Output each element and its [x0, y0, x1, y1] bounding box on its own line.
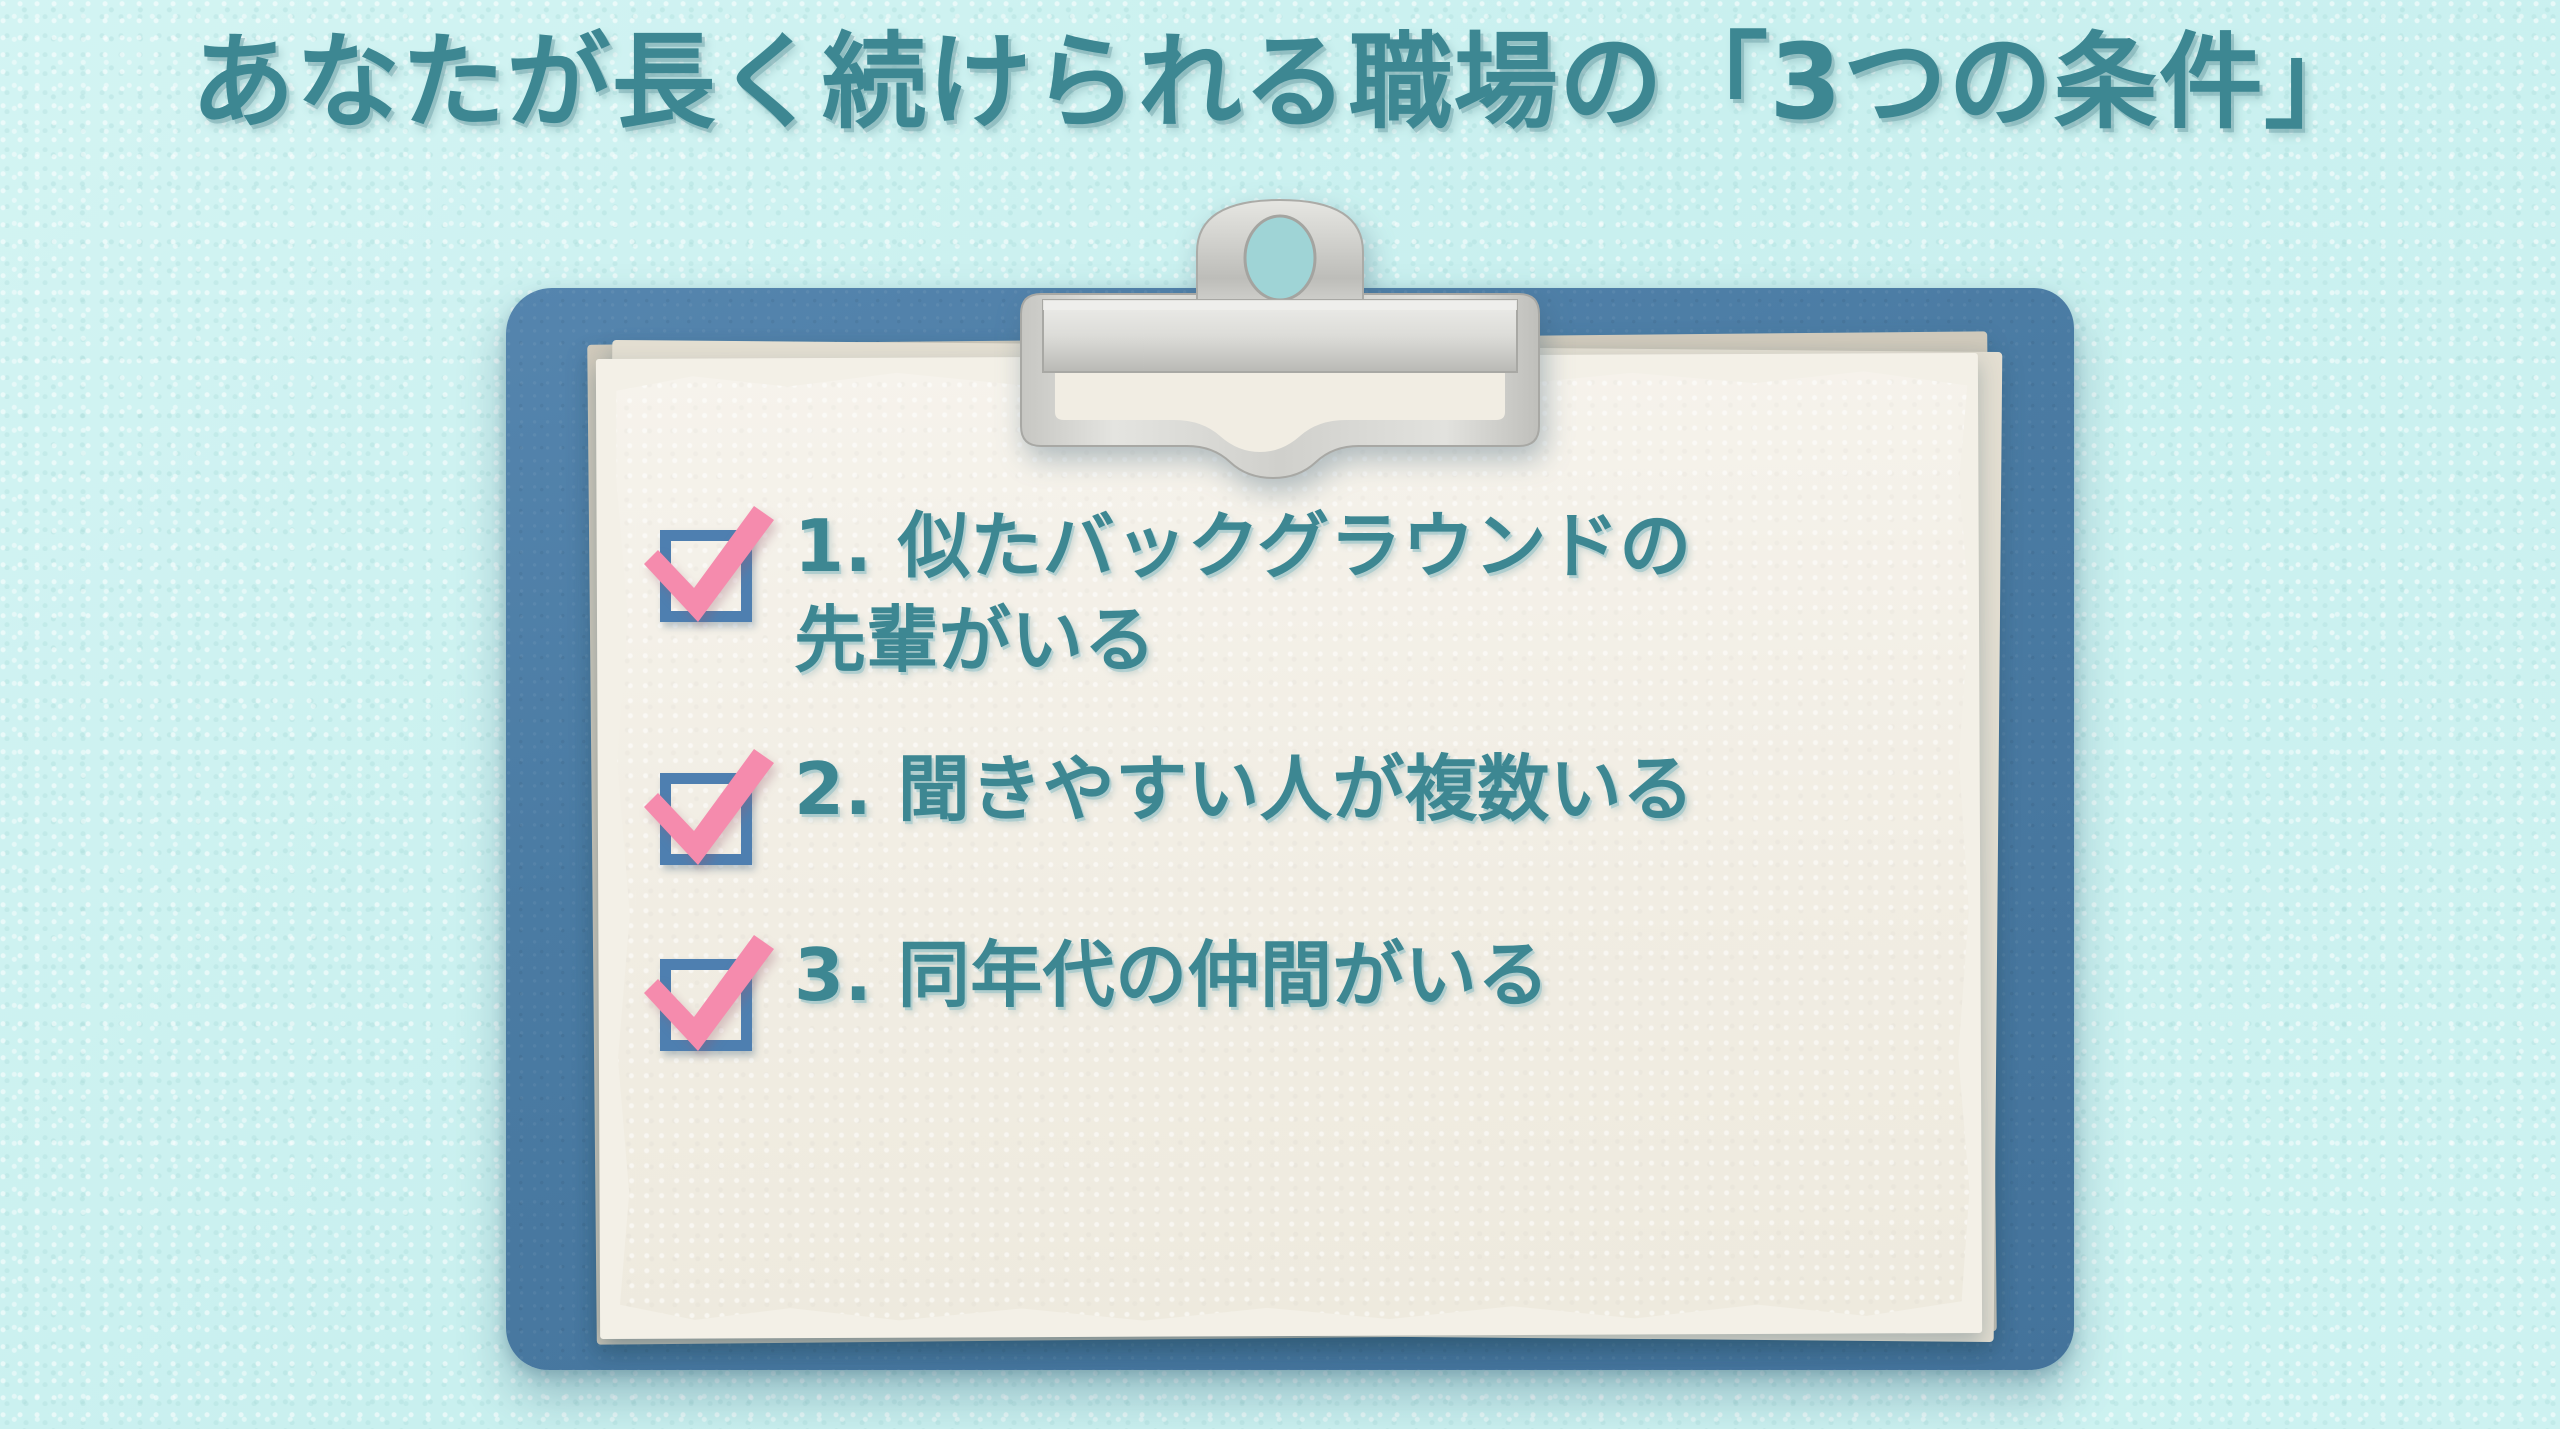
- check-mark-icon: [636, 921, 786, 1071]
- check-mark-icon: [636, 735, 786, 885]
- checkbox-2[interactable]: [650, 749, 774, 873]
- checklist-item-1-label: 1. 似たバックグラウンドの 先輩がいる: [794, 500, 1692, 687]
- checkbox-1[interactable]: [650, 506, 774, 630]
- checklist-item-3[interactable]: 3. 同年代の仲間がいる: [650, 929, 1970, 1059]
- title-area: あなたが長く続けられる職場の「3つの条件」: [0, 24, 2560, 140]
- page-title: あなたが長く続けられる職場の「3つの条件」: [191, 24, 2370, 140]
- checklist: 1. 似たバックグラウンドの 先輩がいる 2. 聞きやすい人が複数いる 3. 同…: [650, 500, 1970, 1059]
- checklist-item-1[interactable]: 1. 似たバックグラウンドの 先輩がいる: [650, 500, 1970, 687]
- checklist-item-3-label: 3. 同年代の仲間がいる: [794, 929, 1550, 1023]
- checkbox-3[interactable]: [650, 935, 774, 1059]
- clipboard-clip-icon: [985, 196, 1575, 502]
- checklist-item-2-label: 2. 聞きやすい人が複数いる: [794, 743, 1695, 837]
- slide-canvas: あなたが長く続けられる職場の「3つの条件」 1. 似たバックグラウンドの 先輩が…: [0, 0, 2560, 1429]
- checklist-item-2[interactable]: 2. 聞きやすい人が複数いる: [650, 743, 1970, 873]
- check-mark-icon: [636, 492, 786, 642]
